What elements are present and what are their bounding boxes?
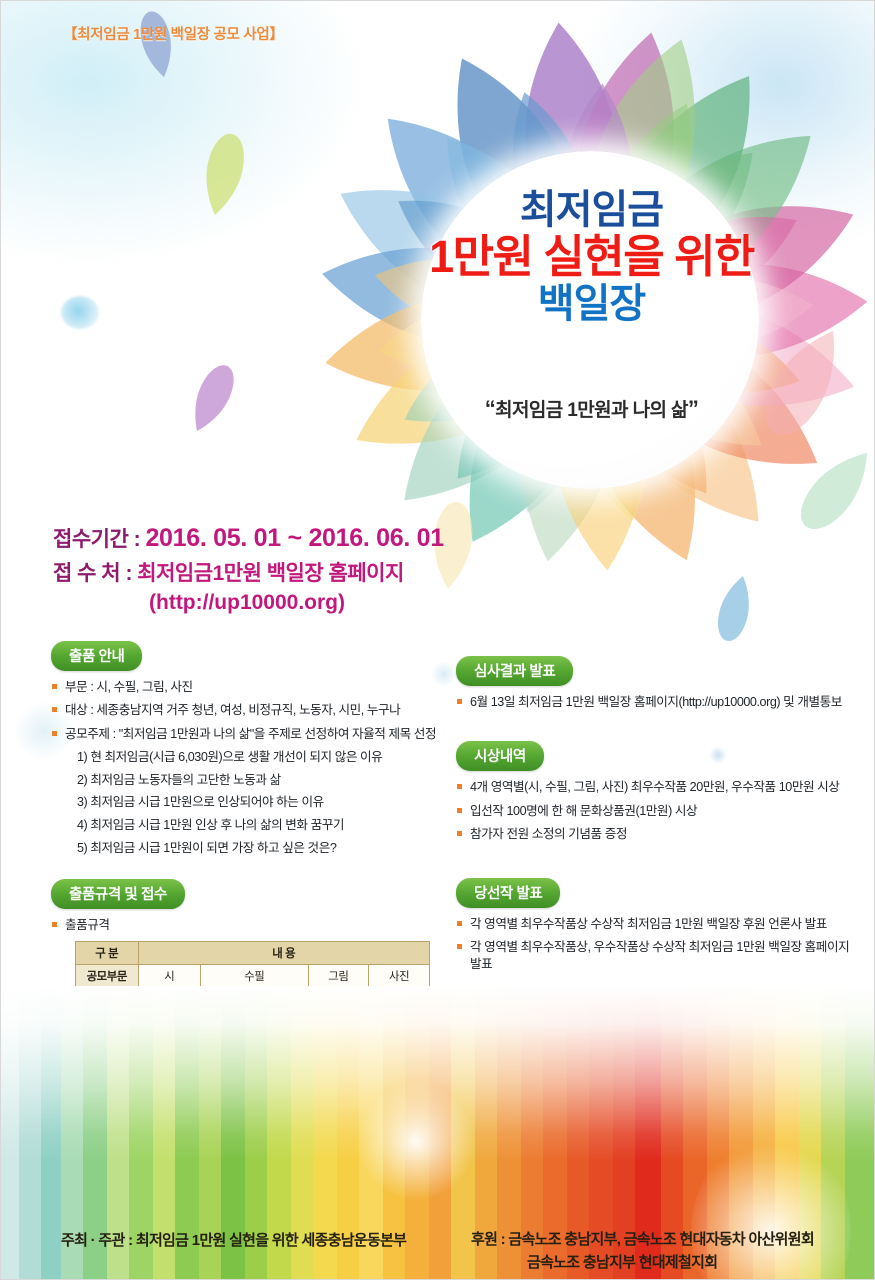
- section-judging-result: 심사결과 발표 6월 13일 최저임금 1만원 백일장 홈페이지(http://…: [456, 656, 856, 711]
- list-item: 4개 영역별(시, 수필, 그림, 사진) 최우수작품 20만원, 우수작품 1…: [456, 779, 856, 796]
- badge-spec-submission: 출품규격 및 접수: [51, 879, 185, 909]
- list-item: 1) 현 최저임금(시급 6,030원)으로 생활 개선이 되지 않은 이유: [51, 749, 451, 767]
- reception-place-label: 접 수 처 :: [53, 557, 137, 587]
- list-item: 5) 최저임금 시급 1만원이 되면 가장 하고 싶은 것은?: [51, 840, 451, 858]
- footer-host: 주최 · 주관 : 최저임금 1만원 실현을 위한 세종충남운동본부: [61, 1229, 461, 1250]
- awards-body: 4개 영역별(시, 수필, 그림, 사진) 최우수작품 20만원, 우수작품 1…: [456, 779, 856, 843]
- poster-title: 최저임금 1만원 실현을 위한 백일장: [419, 189, 764, 325]
- entry-guide-body: 부문 : 시, 수필, 그림, 사진 대상 : 세종충남지역 거주 청년, 여성…: [51, 679, 451, 857]
- section-awards: 시상내역 4개 영역별(시, 수필, 그림, 사진) 최우수작품 20만원, 우…: [456, 741, 856, 843]
- list-item: 대상 : 세종충남지역 거주 청년, 여성, 비정규직, 노동자, 시민, 누구…: [51, 702, 451, 719]
- reception-period-label: 접수기간 :: [53, 523, 145, 553]
- table-cell: 수필: [201, 964, 308, 987]
- poster-subtitle: “최저임금 1만원과 나의 삶”: [419, 395, 764, 422]
- list-item: 부문 : 시, 수필, 그림, 사진: [51, 679, 451, 696]
- reception-url[interactable]: (http://up10000.org): [149, 591, 444, 615]
- badge-winners: 당선작 발표: [456, 878, 560, 908]
- list-item: 입선작 100명에 한 해 문화상품권(1만원) 시상: [456, 803, 856, 820]
- table-row: 공모부문 시 수필 그림 사진: [76, 964, 430, 987]
- list-item: 2) 최저임금 노동자들의 고단한 노동과 삶: [51, 772, 451, 790]
- spec-label: 출품규격: [51, 917, 451, 934]
- table-cell: 사진: [369, 964, 430, 987]
- list-item: 참가자 전원 소정의 기념품 증정: [456, 826, 856, 843]
- table-row-head: 공모부문: [76, 964, 139, 987]
- poster-canvas: 【최저임금 1만원 백일장 공모 사업】 최저임금 1만원 실현을 위한 백일장…: [0, 0, 875, 1280]
- quote-open-mark: “: [485, 396, 495, 421]
- badge-judging-result: 심사결과 발표: [456, 656, 573, 686]
- table-row: 구 분 내 용: [76, 941, 430, 964]
- stripe-fade-mask: [1, 986, 875, 1161]
- reception-block: 접수기간 : 2016. 05. 01 ~ 2016. 06. 01 접 수 처…: [53, 523, 444, 615]
- footer-sponsor: 후원 : 금속노조 충남지부, 금속노조 현대자동차 아산위원회 금속노조 충남…: [471, 1229, 871, 1274]
- title-line-3: 백일장: [419, 283, 764, 325]
- reception-place-row: 접 수 처 : 최저임금1만원 백일장 홈페이지: [53, 557, 444, 587]
- winners-body: 각 영역별 최우수작품상 수상작 최저임금 1만원 백일장 후원 언론사 발표 …: [456, 916, 856, 974]
- footer-sponsor-line-1: 후원 : 금속노조 충남지부, 금속노조 현대자동차 아산위원회: [471, 1229, 871, 1252]
- quote-close-mark: ”: [688, 396, 698, 421]
- table-header-cell: 구 분: [76, 941, 139, 964]
- subtitle-text: 최저임금 1만원과 나의 삶: [495, 400, 688, 421]
- list-item: 공모주제 : "최저임금 1만원과 나의 삶"을 주제로 선정하여 자율적 제목…: [51, 726, 451, 743]
- list-item: 각 영역별 최우수작품상 수상작 최저임금 1만원 백일장 후원 언론사 발표: [456, 916, 856, 933]
- reception-period-value: 2016. 05. 01 ~ 2016. 06. 01: [145, 524, 443, 553]
- list-item: 4) 최저임금 시급 1만원 인상 후 나의 삶의 변화 꿈꾸기: [51, 817, 451, 835]
- judging-result-body: 6월 13일 최저임금 1만원 백일장 홈페이지(http://up10000.…: [456, 694, 856, 711]
- table-header-cell: 내 용: [138, 941, 429, 964]
- title-line-2: 1만원 실현을 위한: [419, 233, 764, 281]
- section-winners: 당선작 발표 각 영역별 최우수작품상 수상작 최저임금 1만원 백일장 후원 …: [456, 878, 856, 974]
- badge-awards: 시상내역: [456, 741, 544, 771]
- table-cell: 그림: [308, 964, 369, 987]
- badge-entry-guide: 출품 안내: [51, 641, 142, 671]
- table-cell: 시: [138, 964, 201, 987]
- section-entry-guide: 출품 안내 부문 : 시, 수필, 그림, 사진 대상 : 세종충남지역 거주 …: [51, 641, 451, 857]
- title-line-1: 최저임금: [419, 189, 764, 231]
- reception-period-row: 접수기간 : 2016. 05. 01 ~ 2016. 06. 01: [53, 523, 444, 553]
- list-item: 3) 최저임금 시급 1만원으로 인상되어야 하는 이유: [51, 794, 451, 812]
- kicker-label: 【최저임금 1만원 백일장 공모 사업】: [63, 23, 284, 44]
- list-item: 각 영역별 최우수작품상, 우수작품상 수상작 최저임금 1만원 백일장 홈페이…: [456, 939, 856, 974]
- list-item: 6월 13일 최저임금 1만원 백일장 홈페이지(http://up10000.…: [456, 694, 856, 711]
- footer-sponsor-line-2: 금속노조 충남지부 현대제철지회: [471, 1252, 871, 1275]
- reception-place-value: 최저임금1만원 백일장 홈페이지: [137, 557, 404, 587]
